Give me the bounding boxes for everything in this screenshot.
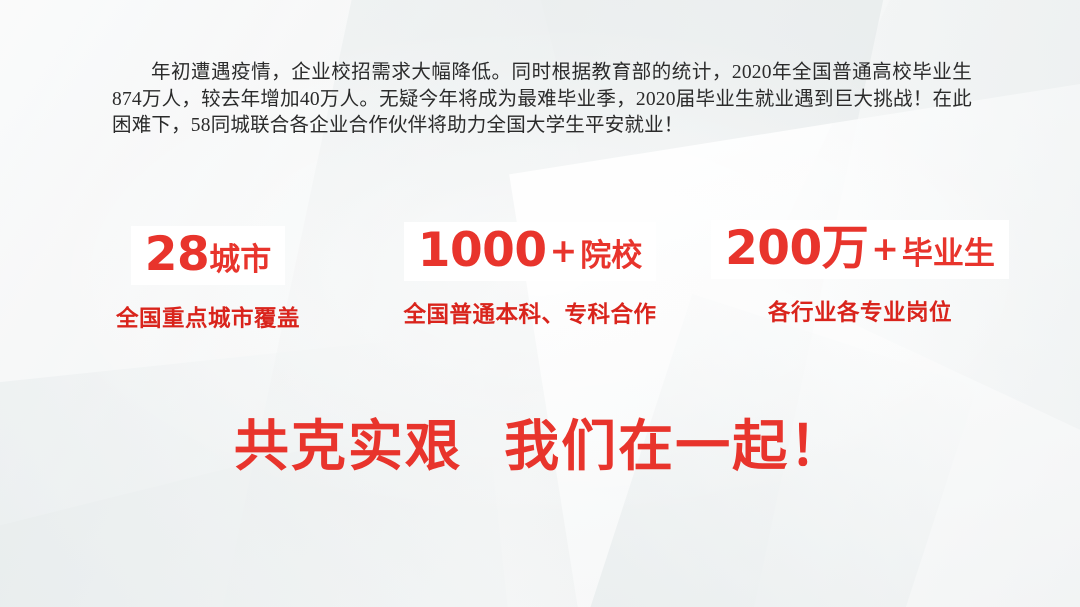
stat-unit-schools: 院校 <box>580 238 642 274</box>
statistics-row: 28城市 全国重点城市覆盖 1000+院校 全国普通本科、专科合作 200万+毕… <box>0 226 1080 341</box>
slide-canvas: 年初遭遇疫情，企业校招需求大幅降低。同时根据教育部的统计，2020年全国普通高校… <box>0 0 1080 607</box>
stat-badge-cities: 28城市 <box>131 226 285 285</box>
stat-number-cities: 28 <box>145 227 209 282</box>
plus-icon-graduates: + <box>868 229 902 268</box>
plus-icon-schools: + <box>547 231 581 270</box>
intro-paragraph-text: 年初遭遇疫情，企业校招需求大幅降低。同时根据教育部的统计，2020年全国普通高校… <box>112 60 972 140</box>
stat-caption-graduates: 各行业各专业岗位 <box>705 295 1015 327</box>
stat-badge-graduates: 200万+毕业生 <box>711 220 1009 279</box>
stat-unit-graduates: 毕业生 <box>902 236 995 272</box>
stat-badge-schools: 1000+院校 <box>404 222 656 281</box>
stat-item-schools: 1000+院校 全国普通本科、专科合作 <box>385 222 675 329</box>
stat-number-schools: 1000 <box>418 223 547 278</box>
stat-item-graduates: 200万+毕业生 各行业各专业岗位 <box>705 220 1015 327</box>
stat-unit-cities: 城市 <box>209 242 271 278</box>
stat-item-cities: 28城市 全国重点城市覆盖 <box>83 226 333 333</box>
slogan-headline: 共克实艰 我们在一起！ <box>0 401 1080 481</box>
intro-paragraph-block: 年初遭遇疫情，企业校招需求大幅降低。同时根据教育部的统计，2020年全国普通高校… <box>112 60 972 140</box>
stat-number-graduates: 200万 <box>725 221 868 276</box>
stat-caption-cities: 全国重点城市覆盖 <box>83 301 333 333</box>
stat-caption-schools: 全国普通本科、专科合作 <box>385 297 675 329</box>
